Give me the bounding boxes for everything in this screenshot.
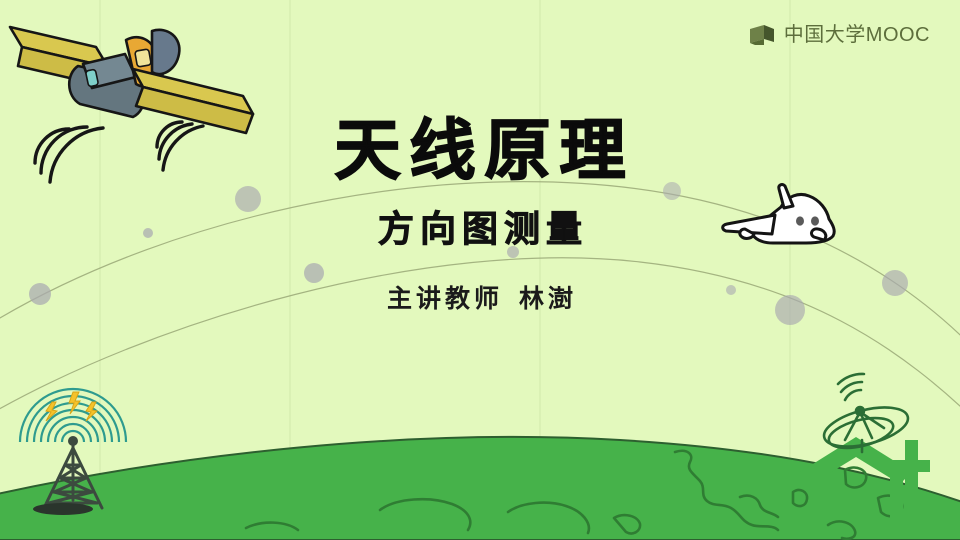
slide-canvas: 中国大学MOOC 天线原理 方向图测量 主讲教师林澍 xyxy=(0,0,960,540)
dish-antenna xyxy=(820,374,912,454)
satellite-dish-house xyxy=(0,0,960,540)
mooc-brand-text: 中国大学MOOC xyxy=(784,25,930,45)
mooc-book-icon xyxy=(749,24,775,46)
house-shape xyxy=(800,437,930,528)
mooc-brand: 中国大学MOOC xyxy=(749,24,930,46)
